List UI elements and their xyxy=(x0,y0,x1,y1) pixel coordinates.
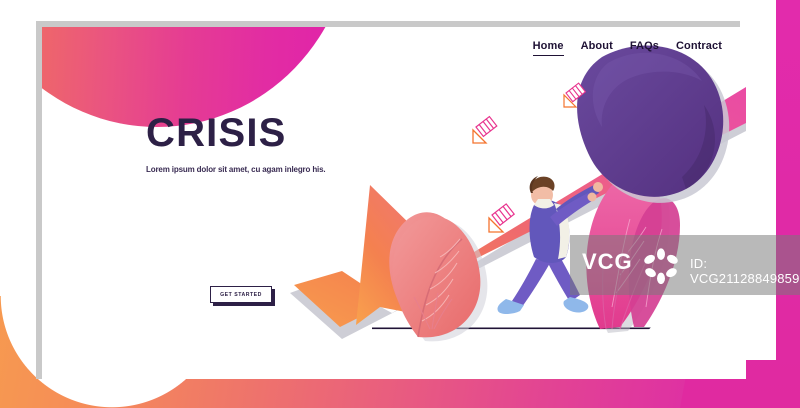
main-nav[interactable]: Home About FAQs Contract xyxy=(533,40,722,56)
watermark-band: VCG ID: VCG211288498592 xyxy=(570,235,800,295)
nav-item-about[interactable]: About xyxy=(581,40,613,55)
vcg-logo: VCG xyxy=(582,249,633,275)
get-started-button[interactable]: GET STARTED xyxy=(210,286,272,303)
hero-illustration xyxy=(42,27,746,379)
decor-arrow-3 xyxy=(489,204,514,232)
nav-item-home[interactable]: Home xyxy=(533,40,564,56)
hero-subtitle: Lorem ipsum dolor sit amet, cu agam inle… xyxy=(146,165,326,175)
browser-card: Home About FAQs Contract CRISIS Lorem ip… xyxy=(42,27,746,379)
nav-item-contract[interactable]: Contract xyxy=(676,40,722,55)
vcg-burst-icon xyxy=(642,247,680,285)
nav-item-faqs[interactable]: FAQs xyxy=(630,40,659,55)
cta-wrapper: GET STARTED xyxy=(210,286,272,303)
watermark-id: ID: VCG211288498592 xyxy=(690,256,800,286)
page-title: CRISIS xyxy=(146,112,326,154)
decor-arrow-2 xyxy=(473,117,497,143)
hero-copy: CRISIS Lorem ipsum dolor sit amet, cu ag… xyxy=(146,112,326,175)
landing-page-screenshot: Home About FAQs Contract CRISIS Lorem ip… xyxy=(0,0,800,408)
